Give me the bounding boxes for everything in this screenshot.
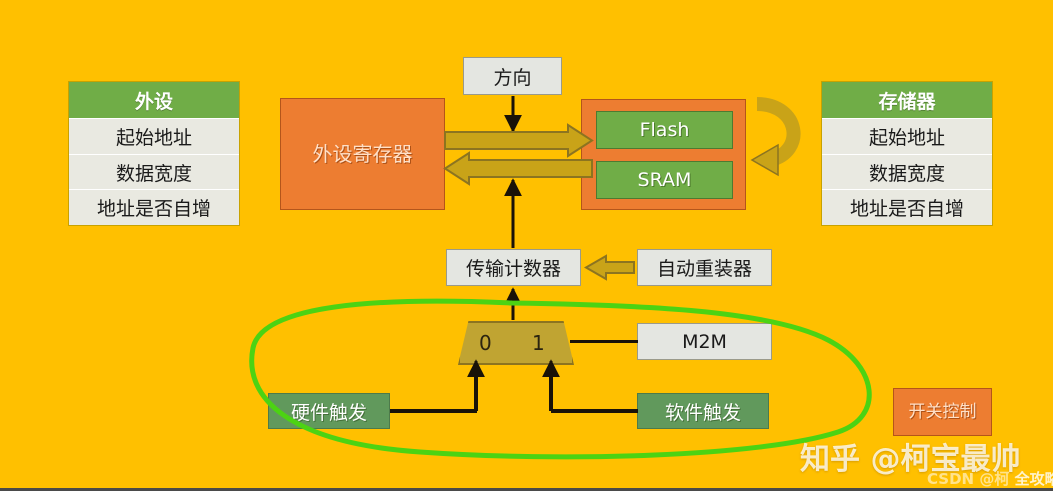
transfer-counter-box: 传输计数器 (446, 249, 581, 286)
line-sw-to-mux-v (549, 366, 553, 411)
m2m-box: M2M (637, 323, 772, 360)
line-sw-to-mux-h (551, 409, 638, 413)
peripheral-register-label: 外设寄存器 (313, 144, 413, 164)
mux-input-0-label: 0 (479, 331, 492, 355)
software-trigger-box: 软件触发 (637, 393, 769, 429)
switch-control-label: 开关控制 (909, 404, 977, 421)
csdn-watermark-brand: 全攻略 (1015, 470, 1053, 488)
diagram-canvas: 外设 起始地址 数据宽度 地址是否自增 存储器 起始地址 数据宽度 地址是否自增… (0, 0, 1053, 491)
trigger-mux (458, 321, 574, 365)
mux-input-1-label: 1 (532, 331, 545, 355)
csdn-watermark-prefix: CSDN @柯 (927, 470, 1009, 488)
auto-reloader-box: 自动重装器 (637, 249, 772, 286)
memory-loop-arc (757, 104, 794, 160)
memory-info-table: 存储器 起始地址 数据宽度 地址是否自增 (821, 81, 993, 226)
memory-row-start-address: 起始地址 (822, 119, 992, 155)
peripheral-row-data-width: 数据宽度 (69, 155, 239, 191)
peripheral-table-header: 外设 (69, 82, 239, 119)
flash-block: Flash (596, 111, 733, 149)
arrow-reloader-to-counter (586, 256, 634, 279)
peripheral-register-block: 外设寄存器 (280, 98, 445, 210)
memory-row-address-increment: 地址是否自增 (822, 190, 992, 225)
memory-block-container: Flash SRAM (581, 99, 746, 210)
line-hw-to-mux-h (390, 409, 477, 413)
csdn-watermark: CSDN @柯 全攻略 (927, 468, 1053, 489)
hardware-trigger-box: 硬件触发 (268, 393, 390, 429)
sram-block: SRAM (596, 161, 733, 199)
direction-label-box: 方向 (463, 57, 562, 95)
memory-row-data-width: 数据宽度 (822, 155, 992, 191)
bus-arrow-right (445, 125, 592, 156)
bus-arrow-left (445, 153, 592, 184)
switch-control-block: 开关控制 (893, 388, 992, 436)
memory-loop-arrowhead (752, 145, 778, 175)
peripheral-row-start-address: 起始地址 (69, 119, 239, 155)
line-hw-to-mux-v (474, 366, 478, 411)
line-mux-to-m2m (570, 340, 638, 343)
peripheral-row-address-increment: 地址是否自增 (69, 190, 239, 225)
peripheral-info-table: 外设 起始地址 数据宽度 地址是否自增 (68, 81, 240, 226)
memory-table-header: 存储器 (822, 82, 992, 119)
